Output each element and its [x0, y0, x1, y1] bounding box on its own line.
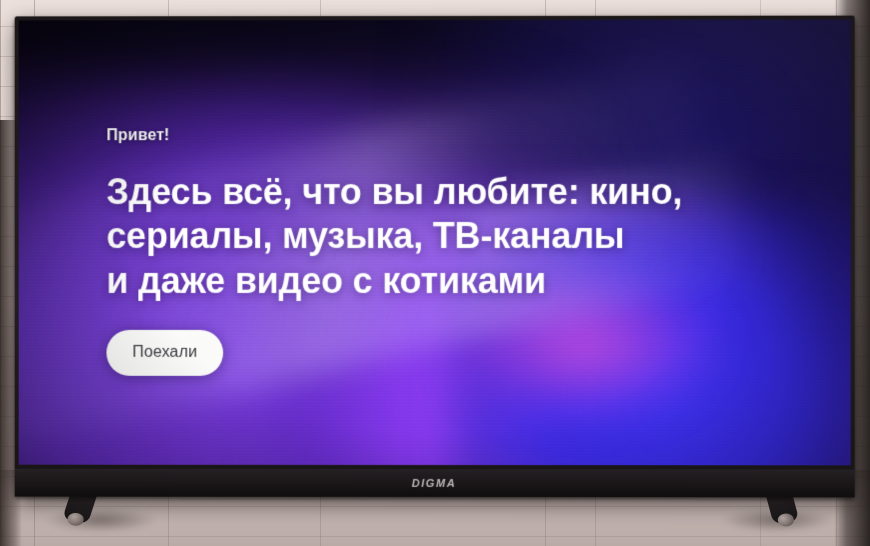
- screen-content: Привет! Здесь всё, что вы любите: кино, …: [19, 20, 851, 466]
- tv-screen: Привет! Здесь всё, что вы любите: кино, …: [19, 20, 851, 466]
- brand-logo: DIGMA: [412, 478, 457, 490]
- greeting-text: Привет!: [106, 128, 806, 144]
- television: Привет! Здесь всё, что вы любите: кино, …: [15, 16, 855, 498]
- page-title: Здесь всё, что вы любите: кино, сериалы,…: [106, 170, 806, 303]
- stand-leg-shadow-left: [46, 508, 156, 532]
- tv-bezel: Привет! Здесь всё, что вы любите: кино, …: [15, 16, 855, 498]
- get-started-button[interactable]: Поехали: [106, 330, 223, 376]
- welcome-panel: Привет! Здесь всё, что вы любите: кино, …: [106, 128, 806, 376]
- photo-scene: Привет! Здесь всё, что вы любите: кино, …: [0, 0, 870, 546]
- tv-chin: DIGMA: [15, 469, 855, 498]
